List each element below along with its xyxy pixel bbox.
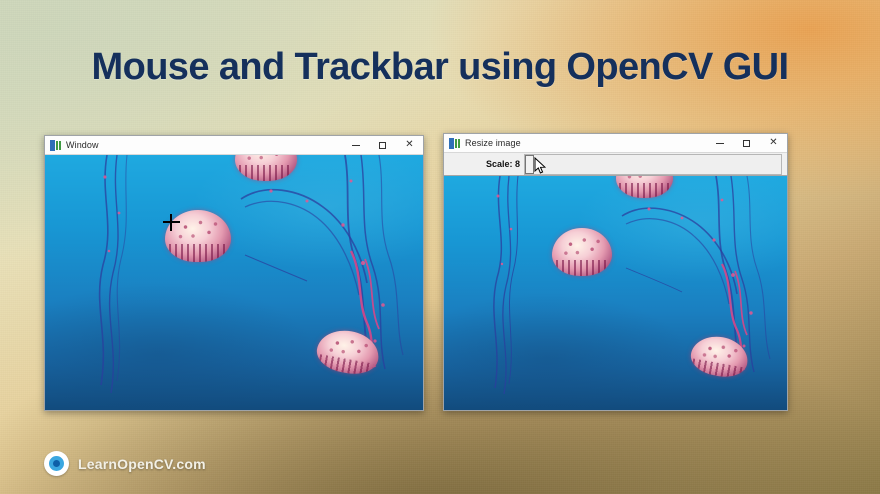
window-left-image[interactable] — [45, 155, 423, 410]
bell-texture — [559, 233, 605, 261]
minimize-icon — [352, 145, 360, 146]
jellyfish-bell — [235, 155, 297, 181]
footer-branding[interactable]: LearnOpenCV.com — [44, 451, 206, 476]
opencv-window-icon — [449, 138, 460, 149]
jellyfish-bell — [552, 228, 612, 276]
bell-texture — [173, 215, 223, 245]
window-left-controls: ✕ — [342, 136, 423, 154]
minimize-button[interactable] — [706, 134, 733, 152]
close-button[interactable]: ✕ — [396, 136, 423, 154]
close-icon: ✕ — [769, 138, 777, 148]
maximize-icon — [379, 142, 386, 149]
window-left[interactable]: Window ✕ — [44, 135, 424, 411]
maximize-button[interactable] — [733, 134, 760, 152]
close-icon: ✕ — [405, 140, 413, 150]
window-left-title: Window — [66, 140, 99, 150]
window-left-titlebar[interactable]: Window ✕ — [45, 136, 423, 155]
minimize-button[interactable] — [342, 136, 369, 154]
window-right[interactable]: Resize image ✕ Scale: 8 — [443, 133, 788, 411]
maximize-icon — [743, 140, 750, 147]
jellyfish-bell — [616, 176, 673, 198]
slide-canvas: Mouse and Trackbar using OpenCV GUI Wind… — [0, 0, 880, 494]
window-right-titlebar[interactable]: Resize image ✕ — [444, 134, 787, 153]
maximize-button[interactable] — [369, 136, 396, 154]
window-right-image[interactable] — [444, 176, 787, 410]
page-title: Mouse and Trackbar using OpenCV GUI — [0, 46, 880, 89]
logo-pupil — [53, 460, 60, 467]
learnopencv-eye-logo — [44, 451, 69, 476]
bell-texture — [242, 155, 289, 166]
window-right-controls: ✕ — [706, 134, 787, 152]
trackbar-thumb[interactable] — [525, 155, 534, 174]
opencv-window-icon — [50, 140, 61, 151]
window-right-title: Resize image — [465, 138, 521, 148]
bell-texture — [623, 176, 666, 184]
trackbar-panel[interactable]: Scale: 8 — [444, 153, 787, 176]
trackbar-slider[interactable] — [524, 154, 782, 175]
bell-texture — [697, 337, 744, 367]
minimize-icon — [716, 143, 724, 144]
trackbar-label: Scale: 8 — [450, 159, 524, 169]
bell-texture — [323, 331, 374, 363]
arrow-cursor — [534, 157, 546, 175]
logo-ring — [49, 456, 64, 471]
jellyfish-bell — [165, 210, 231, 262]
close-button[interactable]: ✕ — [760, 134, 787, 152]
brand-text: LearnOpenCV.com — [78, 456, 206, 472]
